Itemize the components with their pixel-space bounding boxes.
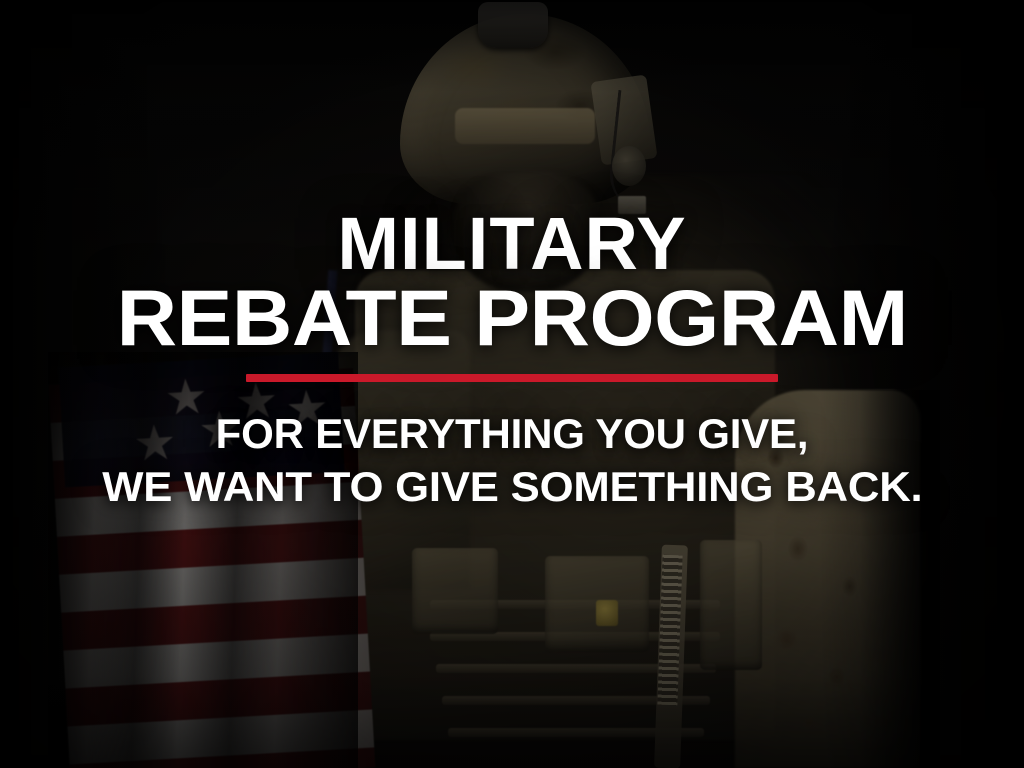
gear-buckle: [596, 600, 618, 626]
background-photo: [0, 0, 1024, 768]
flag-canton: [58, 352, 344, 487]
helmet-brow-pad: [455, 108, 595, 144]
flag-stars-icon: [58, 352, 344, 487]
gear-pouch: [412, 548, 498, 634]
slide-canvas: MILITARY REBATE PROGRAM FOR EVERYTHING Y…: [0, 0, 1024, 768]
nvg-mount: [478, 2, 548, 48]
gear-pouch: [700, 540, 762, 670]
helmet-patch: [618, 196, 646, 214]
soldier-face: [452, 172, 602, 292]
right-arm-shadow: [860, 390, 940, 768]
comms-headset-earcup: [612, 146, 646, 186]
